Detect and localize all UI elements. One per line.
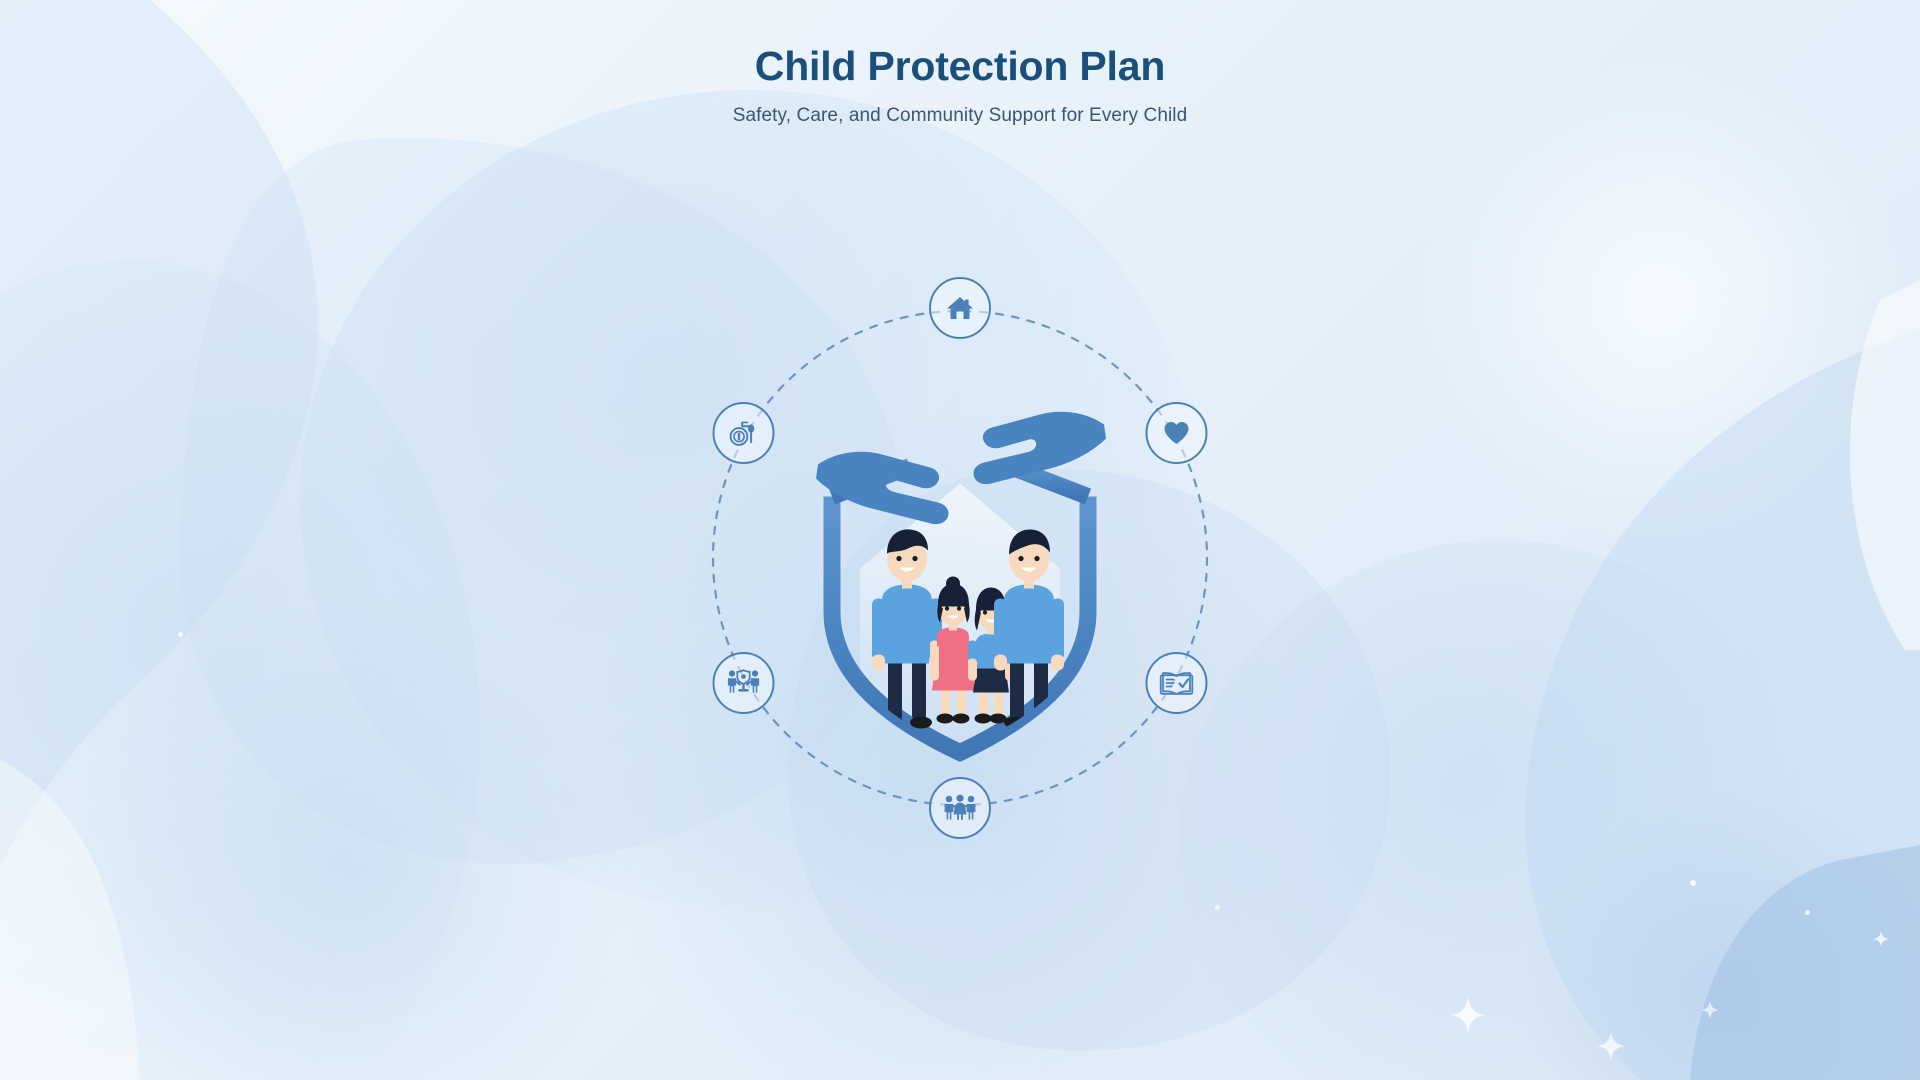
- central-shield-graphic: [760, 368, 1160, 773]
- page-header: Child Protection Plan Safety, Care, and …: [0, 0, 1920, 127]
- orbit-node-nutrition[interactable]: [713, 402, 775, 464]
- orbit-node-home[interactable]: [929, 277, 991, 339]
- protection-icon: [726, 668, 762, 698]
- sparkle-icon: [1448, 995, 1488, 1035]
- home-icon: [945, 293, 975, 323]
- sparkle-dot: [1805, 910, 1810, 915]
- page-subtitle: Safety, Care, and Community Support for …: [0, 105, 1920, 127]
- orbit-node-education[interactable]: [1146, 652, 1208, 714]
- orbit-node-community[interactable]: [929, 777, 991, 839]
- page-title: Child Protection Plan: [0, 44, 1920, 89]
- heart-icon: [1163, 419, 1191, 447]
- orbit-node-health[interactable]: [1146, 402, 1208, 464]
- orbit-node-safeguard[interactable]: [713, 652, 775, 714]
- bg-blob-bottom-right: [1520, 790, 1920, 1080]
- bg-glow-top-right: [1400, 60, 1920, 540]
- protection-plan-diagram: [460, 148, 1460, 968]
- open-book-icon: [1160, 668, 1194, 698]
- three-people-icon: [942, 794, 978, 822]
- sparkle-dot: [1690, 880, 1696, 886]
- sparkle-icon: [1872, 930, 1890, 948]
- sparkle-dot: [178, 632, 183, 637]
- bg-blob-left: [0, 260, 480, 1080]
- sparkle-icon: [1595, 1030, 1627, 1062]
- plate-cutlery-icon: [728, 417, 760, 449]
- sparkle-icon: [1700, 1000, 1720, 1020]
